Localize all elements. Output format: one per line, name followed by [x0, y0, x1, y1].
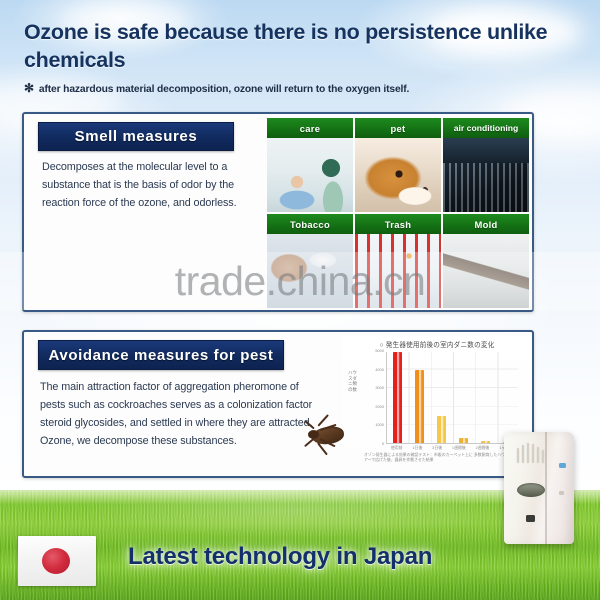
device-side-mark	[559, 491, 564, 495]
device-power-button[interactable]	[526, 515, 535, 522]
smell-measures-panel: Smell measures Decomposes at the molecul…	[22, 112, 534, 312]
chart-x-tick: 1週間後	[452, 445, 466, 451]
chart-bar	[393, 352, 402, 443]
grid-cell-label: air conditioning	[443, 118, 529, 138]
chart-x-tick: 使用前	[391, 445, 403, 451]
chart-y-tick: 1000	[375, 422, 384, 427]
chart-bars	[387, 352, 518, 443]
pest-measures-heading-text: Avoidance measures for pest	[49, 347, 274, 364]
chart-y-tick: 4000	[375, 367, 384, 372]
device-display	[517, 483, 545, 497]
pest-measures-body-text: The main attraction factor of aggregatio…	[40, 378, 325, 450]
chart-y-tick: 0	[382, 441, 384, 446]
trash-photo	[355, 234, 441, 308]
chart-bar	[481, 441, 490, 443]
tobacco-photo	[267, 234, 353, 308]
chart-x-tick: 2週間後	[476, 445, 490, 451]
device-led-indicator	[559, 463, 566, 468]
grid-cell-label: Mold	[443, 214, 529, 234]
chart-x-tick: 1日後	[412, 445, 422, 451]
grid-cell-mold: Mold	[443, 214, 529, 308]
device-vents	[517, 443, 543, 463]
chart-y-axis-label: ハウスダニ類の数	[348, 370, 357, 392]
smell-measures-body-text: Decomposes at the molecular level to a s…	[42, 158, 252, 212]
chart-x-tick-labels: 使用前1日後3日後1週間後2週間後1ヶ月後	[386, 445, 518, 451]
smell-measures-heading-bar: Smell measures	[38, 122, 234, 151]
grid-cell-care: care	[267, 118, 353, 212]
chart-bar	[437, 416, 446, 443]
subtitle-row: ✻ after hazardous material decomposition…	[24, 82, 554, 95]
grid-cell-label: Tobacco	[267, 214, 353, 234]
footer-tagline: Latest technology in Japan	[128, 543, 432, 571]
footer-banner: Latest technology in Japan	[0, 528, 600, 590]
chart-y-tick: 5000	[375, 348, 384, 353]
chart-y-tick: 3000	[375, 385, 384, 390]
chart-bar	[415, 370, 424, 443]
chart-y-tick: 2000	[375, 404, 384, 409]
page-subtitle: after hazardous material decomposition, …	[39, 84, 409, 95]
smell-measures-heading-text: Smell measures	[75, 128, 198, 145]
usage-image-grid: care pet air conditioning Tobacco Trash	[267, 118, 529, 308]
grid-cell-label: Trash	[355, 214, 441, 234]
grid-cell-tobacco: Tobacco	[267, 214, 353, 308]
grid-cell-pet: pet	[355, 118, 441, 212]
cockroach-icon	[296, 414, 360, 458]
dog-photo	[355, 138, 441, 212]
car-air-vent-photo	[443, 138, 529, 212]
page-title: Ozone is safe because there is no persis…	[24, 18, 554, 74]
japan-flag-icon	[18, 536, 96, 586]
chart-bar	[459, 438, 468, 443]
chart-y-tick-labels: 500040003000200010000	[358, 348, 384, 446]
pest-measures-panel: Avoidance measures for pest The main att…	[22, 330, 534, 478]
chart-plot-area	[386, 352, 518, 444]
grid-cell-label: pet	[355, 118, 441, 138]
hospital-care-photo	[267, 138, 353, 212]
promo-banner: Ozone is safe because there is no persis…	[0, 0, 600, 600]
grid-cell-trash: Trash	[355, 214, 441, 308]
grid-cell-label: care	[267, 118, 353, 138]
asterisk-icon: ✻	[24, 82, 34, 94]
grid-cell-air-conditioning: air conditioning	[443, 118, 529, 212]
pest-measures-heading-bar: Avoidance measures for pest	[38, 340, 284, 370]
mold-photo	[443, 234, 529, 308]
chart-x-tick: 3日後	[432, 445, 442, 451]
header: Ozone is safe because there is no persis…	[24, 18, 554, 95]
